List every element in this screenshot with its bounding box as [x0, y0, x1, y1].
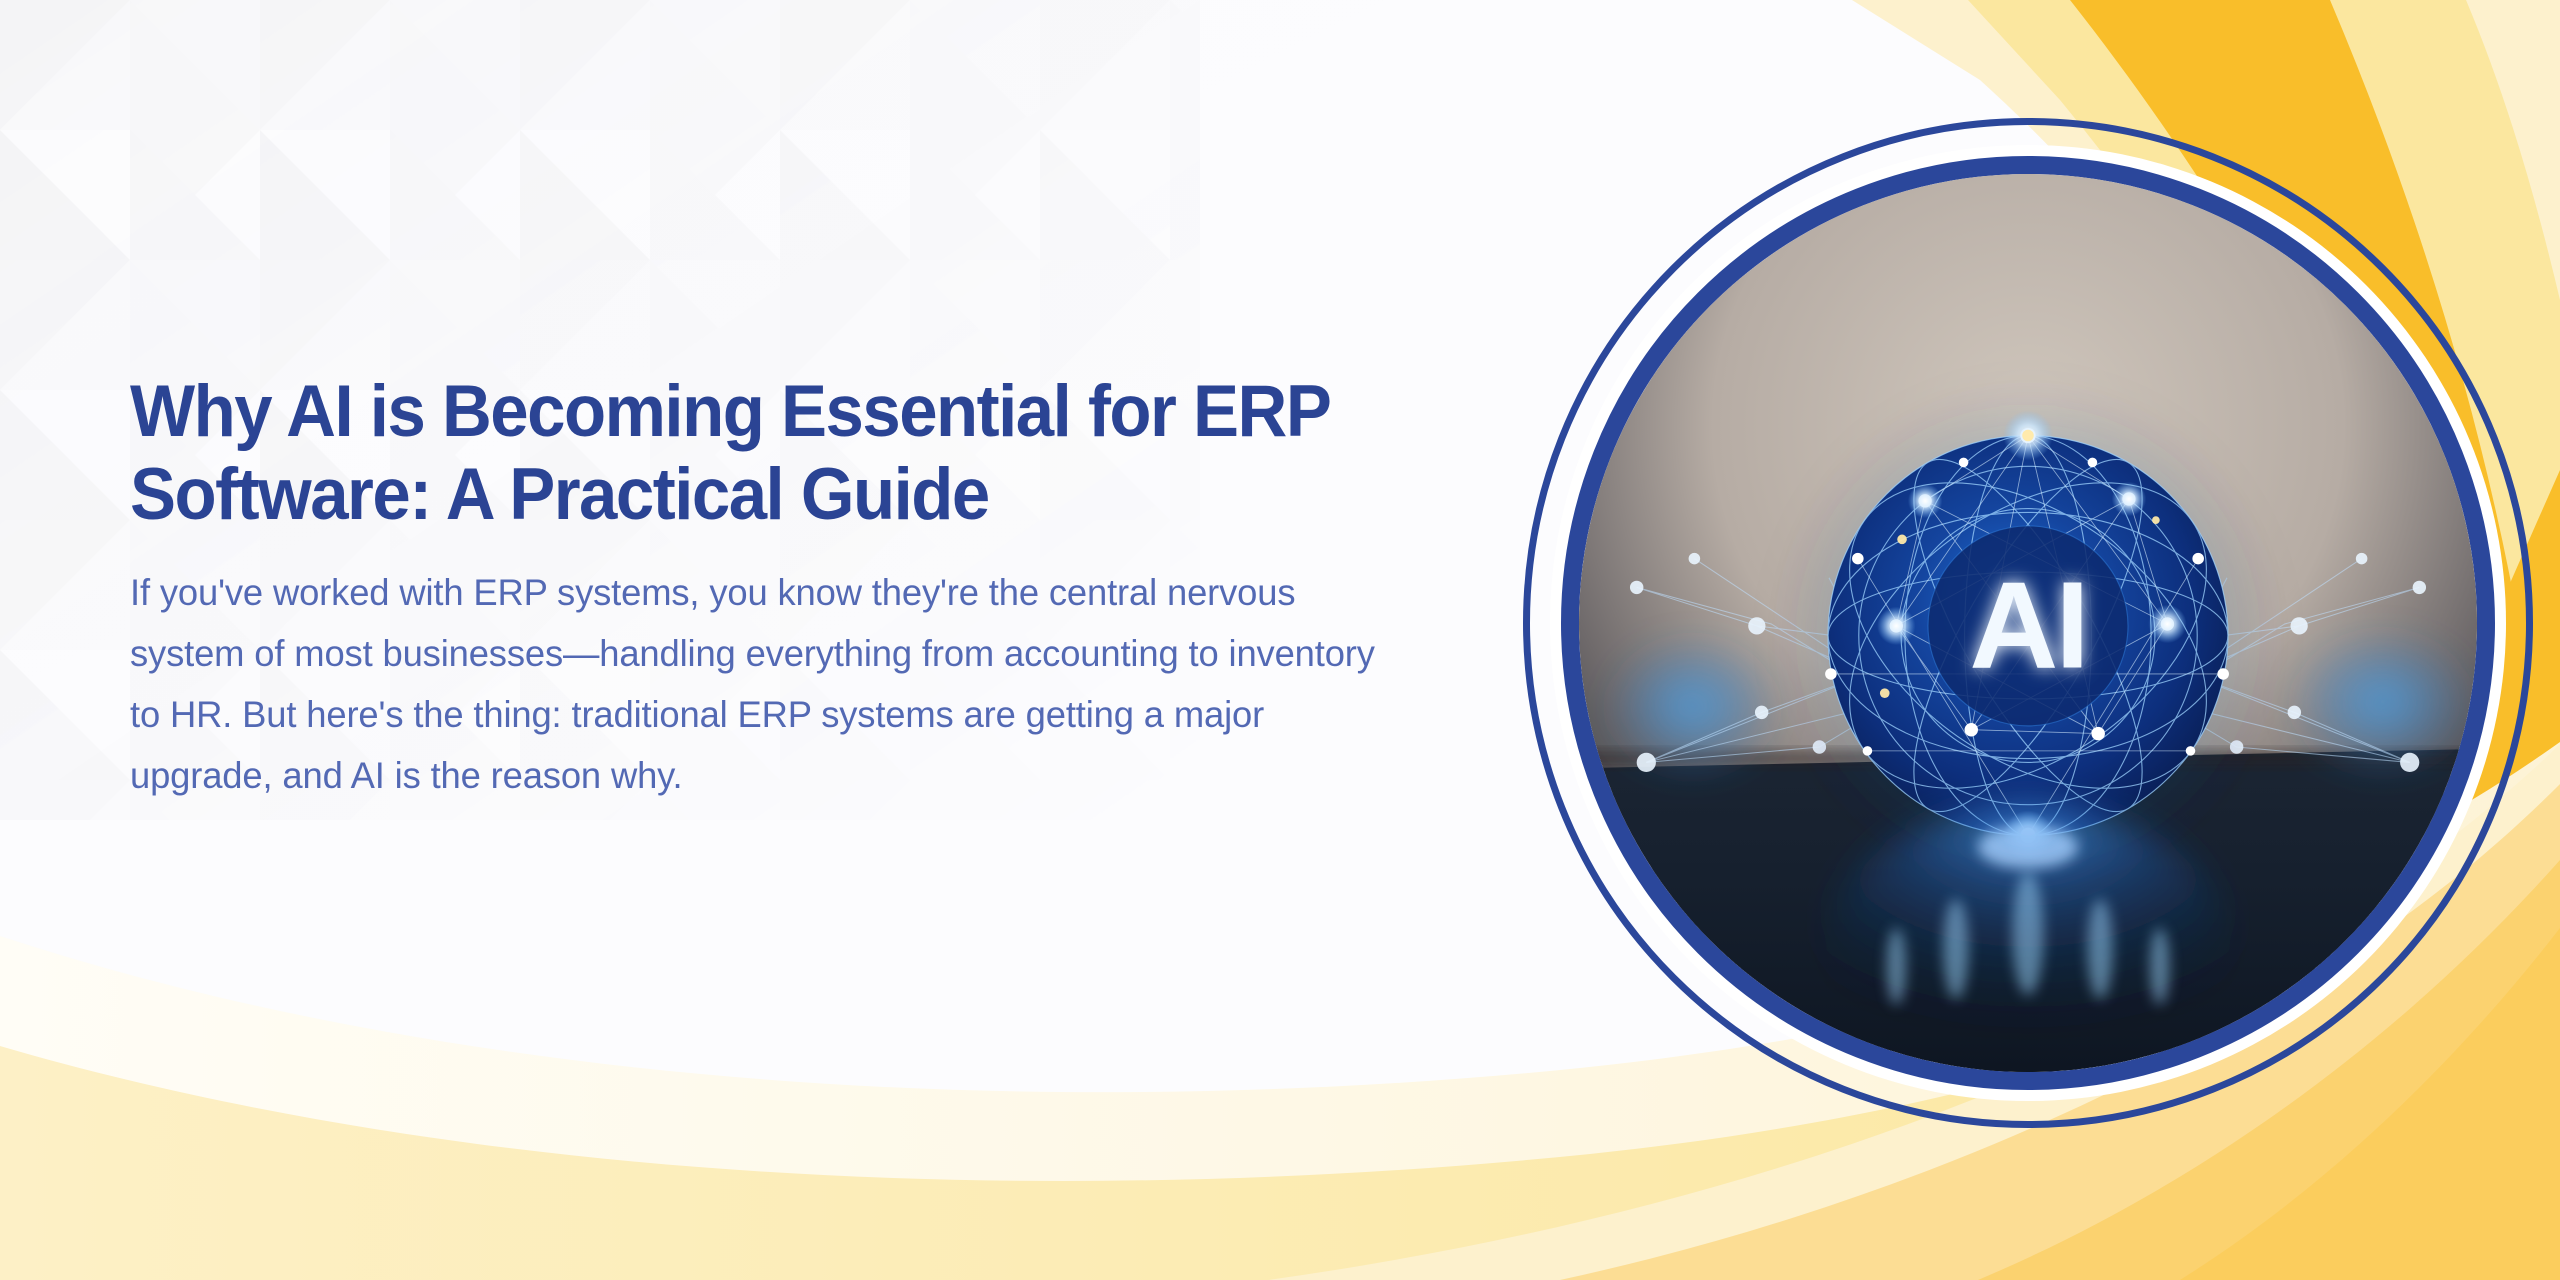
ai-medallion: AI [1523, 118, 2533, 1128]
page-title: Why AI is Becoming Essential for ERP Sof… [130, 370, 1349, 536]
hero-text-column: Why AI is Becoming Essential for ERP Sof… [130, 370, 1420, 805]
sphere-ai-label: AI [1969, 557, 2086, 694]
medallion-inner-ring: AI [1561, 156, 2495, 1090]
blog-banner: Why AI is Becoming Essential for ERP Sof… [0, 0, 2560, 1280]
ai-sphere-illustration: AI [1579, 174, 2477, 1072]
page-subcopy: If you've worked with ERP systems, you k… [130, 562, 1376, 805]
ai-sphere-photo: AI [1579, 174, 2477, 1072]
